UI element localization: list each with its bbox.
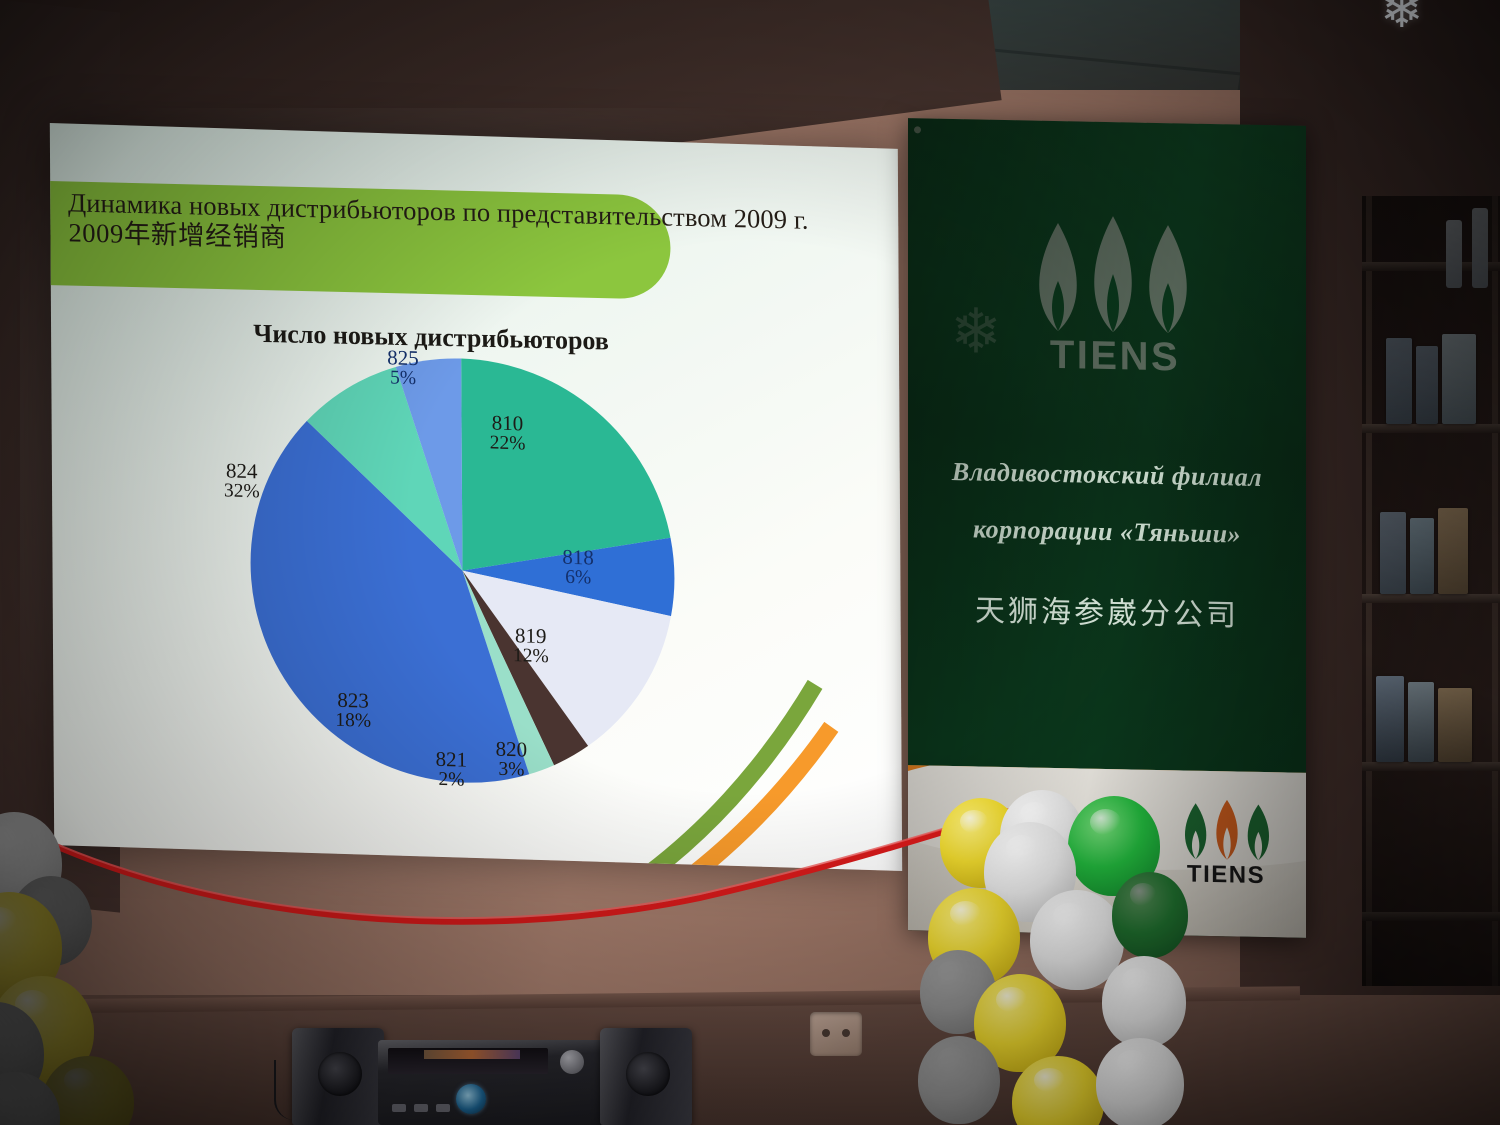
projection-screen: Динамика новых дистрибьюторов по предста… xyxy=(50,123,902,871)
stereo-button[interactable] xyxy=(392,1104,406,1112)
shelf-lighting-overlay xyxy=(1362,196,1500,986)
tiens-logo-wordmark: TIENS xyxy=(1028,332,1202,380)
slide: Динамика новых дистрибьюторов по предста… xyxy=(50,123,902,871)
speaker-cone xyxy=(626,1052,670,1096)
banner-line-1: Владивостокский филиал xyxy=(908,456,1306,494)
stereo-display xyxy=(424,1050,520,1059)
room-scene: ❄ Динамика новых дистрибьюторов по предс… xyxy=(0,0,1500,1125)
stereo-system xyxy=(292,1014,692,1125)
cd-tray-indicator[interactable] xyxy=(456,1084,486,1114)
stereo-deck xyxy=(378,1040,608,1125)
volume-knob[interactable] xyxy=(560,1050,584,1074)
balloon xyxy=(1102,956,1186,1048)
stereo-speaker-left xyxy=(292,1028,384,1125)
balloon xyxy=(918,1036,1000,1124)
tiens-logo-icon xyxy=(1028,212,1198,335)
banner-snowflake-icon: ❄ xyxy=(950,301,1002,364)
pie-label-824: 824 32% xyxy=(224,460,260,502)
stereo-button-row[interactable] xyxy=(392,1104,450,1112)
banner-pin xyxy=(914,126,921,133)
red-ribbon-streamer xyxy=(0,790,1010,970)
floor xyxy=(0,995,1500,1125)
banner-footer-wordmark: TIENS xyxy=(1168,860,1284,890)
wall-socket xyxy=(810,1012,862,1056)
slide-title: Динамика новых дистрибьюторов по предста… xyxy=(60,182,891,310)
product-shelving-unit xyxy=(1362,196,1500,986)
speaker-cone xyxy=(318,1052,362,1096)
banner-line-chinese: 天狮海参崴分公司 xyxy=(908,584,1306,636)
stereo-button[interactable] xyxy=(414,1104,428,1112)
pie-label-825: 825 5% xyxy=(387,347,419,389)
pie-label-823: 823 18% xyxy=(335,690,371,732)
banner-line-2: корпорации «Тяньши» xyxy=(908,513,1306,551)
stereo-speaker-right xyxy=(600,1028,692,1125)
pie-label-818: 818 6% xyxy=(562,547,594,589)
stereo-button[interactable] xyxy=(436,1104,450,1112)
balloon xyxy=(1112,872,1188,958)
cassette-slot xyxy=(388,1048,548,1074)
balloon xyxy=(1096,1038,1184,1125)
pie-label-810: 810 22% xyxy=(489,412,525,454)
banner-footer-tiens-logo-icon xyxy=(1178,798,1276,862)
snowflake-icon: ❄ xyxy=(1380,0,1490,60)
